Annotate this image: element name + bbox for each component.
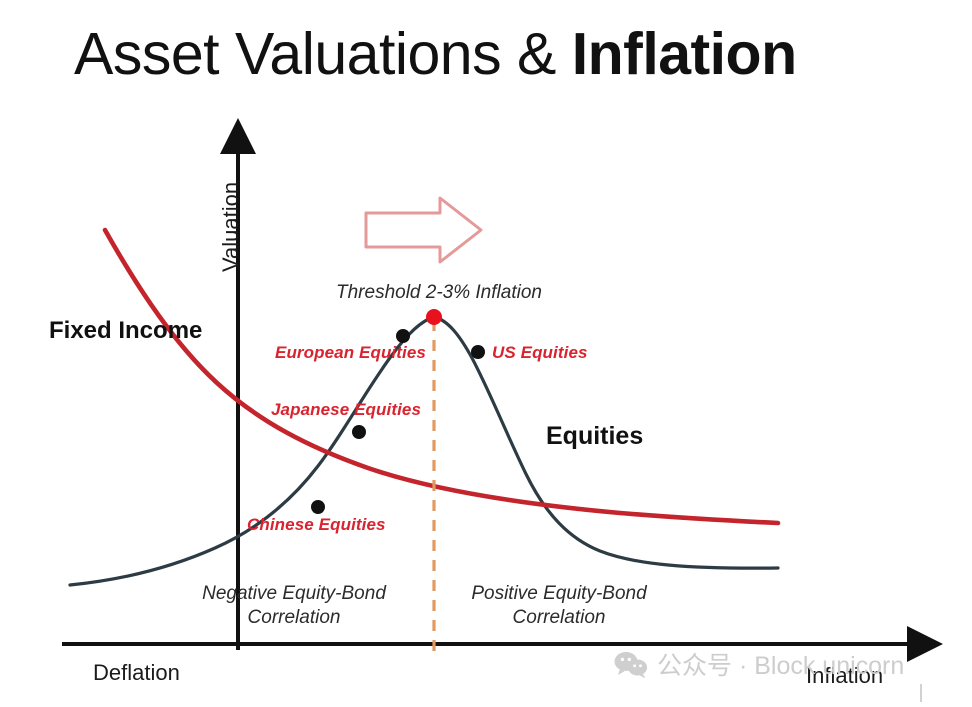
watermark-tick [920, 684, 922, 702]
positive-correlation-line2: Correlation [513, 607, 606, 628]
x-axis-label-deflation: Deflation [93, 660, 180, 686]
marker-label-japanese-equities: Japanese Equities [271, 400, 421, 420]
marker-label-us-equities: US Equities [492, 343, 588, 363]
negative-correlation-line2: Correlation [248, 607, 341, 628]
marker-dot-us-equities [471, 345, 485, 359]
negative-correlation-line1: Negative Equity-Bond [202, 583, 386, 604]
right-arrow-icon [366, 198, 481, 262]
marker-dot-peak-threshold [426, 309, 442, 325]
equities-label: Equities [546, 422, 643, 451]
y-axis-label: Valuation [218, 182, 244, 272]
chart-page: Asset Valuations & Inflation Valuation D… [0, 0, 972, 707]
fixed-income-curve [105, 230, 778, 523]
x-axis-label-inflation: Inflation [806, 663, 883, 689]
marker-dot-european-equities [396, 329, 410, 343]
positive-correlation-line1: Positive Equity-Bond [471, 583, 646, 604]
marker-label-chinese-equities: Chinese Equities [247, 515, 386, 535]
positive-correlation-label: Positive Equity-Bond Correlation [465, 582, 653, 630]
fixed-income-label: Fixed Income [49, 317, 202, 345]
marker-dot-japanese-equities [352, 425, 366, 439]
marker-dot-chinese-equities [311, 500, 325, 514]
marker-label-european-equities: European Equities [275, 343, 426, 363]
negative-correlation-label: Negative Equity-Bond Correlation [199, 582, 389, 630]
threshold-label: Threshold 2-3% Inflation [336, 282, 542, 304]
